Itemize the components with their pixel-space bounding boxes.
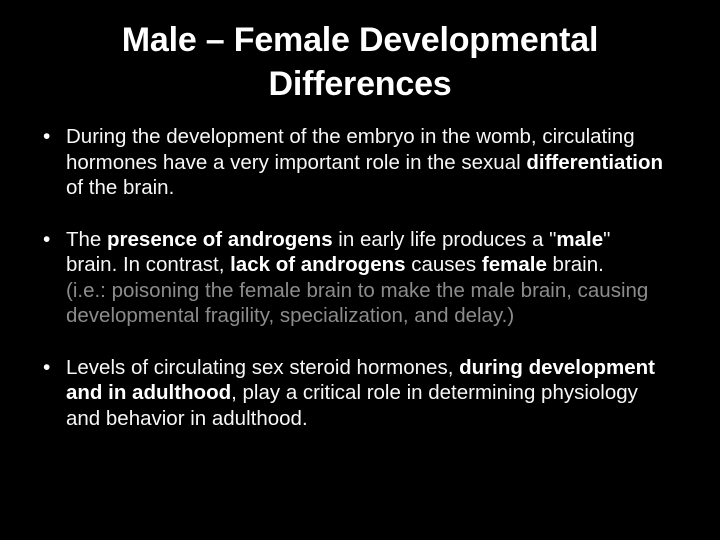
bullet-2-seg-0: The — [66, 228, 107, 251]
bullet-marker-icon: • — [36, 227, 66, 253]
bullet-2-seg-3: male — [556, 228, 603, 251]
slide-canvas: Male – Female Developmental Differences … — [0, 0, 720, 540]
bullet-2-seg-5: lack of androgens — [230, 253, 405, 276]
bullet-text-3: Levels of circulating sex steroid hormon… — [66, 355, 666, 432]
bullet-1-seg-1: differentiation — [526, 151, 663, 174]
bullet-2-seg-1: presence of androgens — [107, 228, 333, 251]
bullet-text-1: During the development of the embryo in … — [66, 124, 666, 201]
bullet-item-2: • The presence of androgens in early lif… — [36, 227, 684, 329]
slide-body: • During the development of the embryo i… — [36, 124, 684, 431]
bullet-marker-icon: • — [36, 355, 66, 381]
bullet-1-seg-2: of the brain. — [66, 176, 174, 199]
bullet-2-seg-8: brain. — [547, 253, 604, 276]
bullet-item-3: • Levels of circulating sex steroid horm… — [36, 355, 684, 432]
slide-title-line-1: Male – Female Developmental — [40, 18, 680, 62]
bullet-2-seg-2: in early life produces a " — [333, 228, 557, 251]
bullet-item-1: • During the development of the embryo i… — [36, 124, 684, 201]
bullet-text-2: The presence of androgens in early life … — [66, 227, 666, 329]
slide-title: Male – Female Developmental Differences — [40, 18, 680, 106]
bullet-2-seg-6: causes — [406, 253, 482, 276]
bullet-2-seg-7: female — [482, 253, 547, 276]
slide-title-line-2: Differences — [40, 62, 680, 106]
bullet-3-seg-0: Levels of circulating sex steroid hormon… — [66, 356, 459, 379]
bullet-2-parenthetical-note: (i.e.: poisoning the female brain to mak… — [66, 278, 666, 329]
bullet-marker-icon: • — [36, 124, 66, 150]
